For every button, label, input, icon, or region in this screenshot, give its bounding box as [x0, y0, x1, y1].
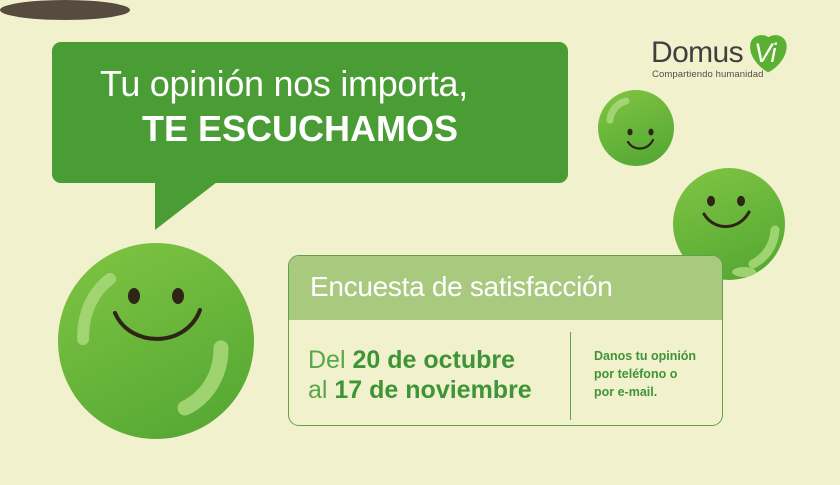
logo-vi-letters: Vi — [754, 38, 776, 69]
domusvi-logo: Domus Vi Compartiendo humanidad — [651, 36, 781, 86]
survey-card-title: Encuesta de satisfacción — [310, 271, 613, 303]
poster-canvas: Domus Vi Compartiendo humanidad Tu opini… — [0, 0, 840, 485]
large-smiley-face — [58, 243, 254, 439]
logo-wordmark-text: Domus — [651, 36, 743, 70]
survey-card: Encuesta de satisfacción Del 20 de octub… — [288, 255, 723, 426]
survey-date-prefix-1: Del — [308, 346, 352, 374]
survey-card-divider — [570, 332, 571, 420]
smiley-shadow — [0, 0, 130, 20]
survey-contact-line-1: Danos tu opinión — [594, 348, 719, 366]
survey-date-strong-1: 20 de octubre — [352, 346, 515, 374]
survey-date-prefix-2: al — [308, 376, 334, 404]
survey-contact-line-3: por e-mail. — [594, 384, 719, 402]
headline-line-2: TE ESCUCHAMOS — [142, 108, 458, 150]
logo-tagline: Compartiendo humanidad — [652, 69, 764, 80]
survey-contact-block: Danos tu opinión por teléfono o por e-ma… — [594, 348, 719, 401]
small-smiley-face — [598, 90, 674, 166]
speech-bubble-tail — [155, 182, 217, 230]
survey-contact-line-2: por teléfono o — [594, 366, 719, 384]
survey-date-strong-2: 17 de noviembre — [334, 376, 531, 404]
survey-dates-block: Del 20 de octubre al 17 de noviembre — [308, 346, 558, 405]
survey-date-line-2: al 17 de noviembre — [308, 376, 558, 406]
survey-date-line-1: Del 20 de octubre — [308, 346, 558, 376]
headline-line-1: Tu opinión nos importa, — [100, 63, 468, 105]
